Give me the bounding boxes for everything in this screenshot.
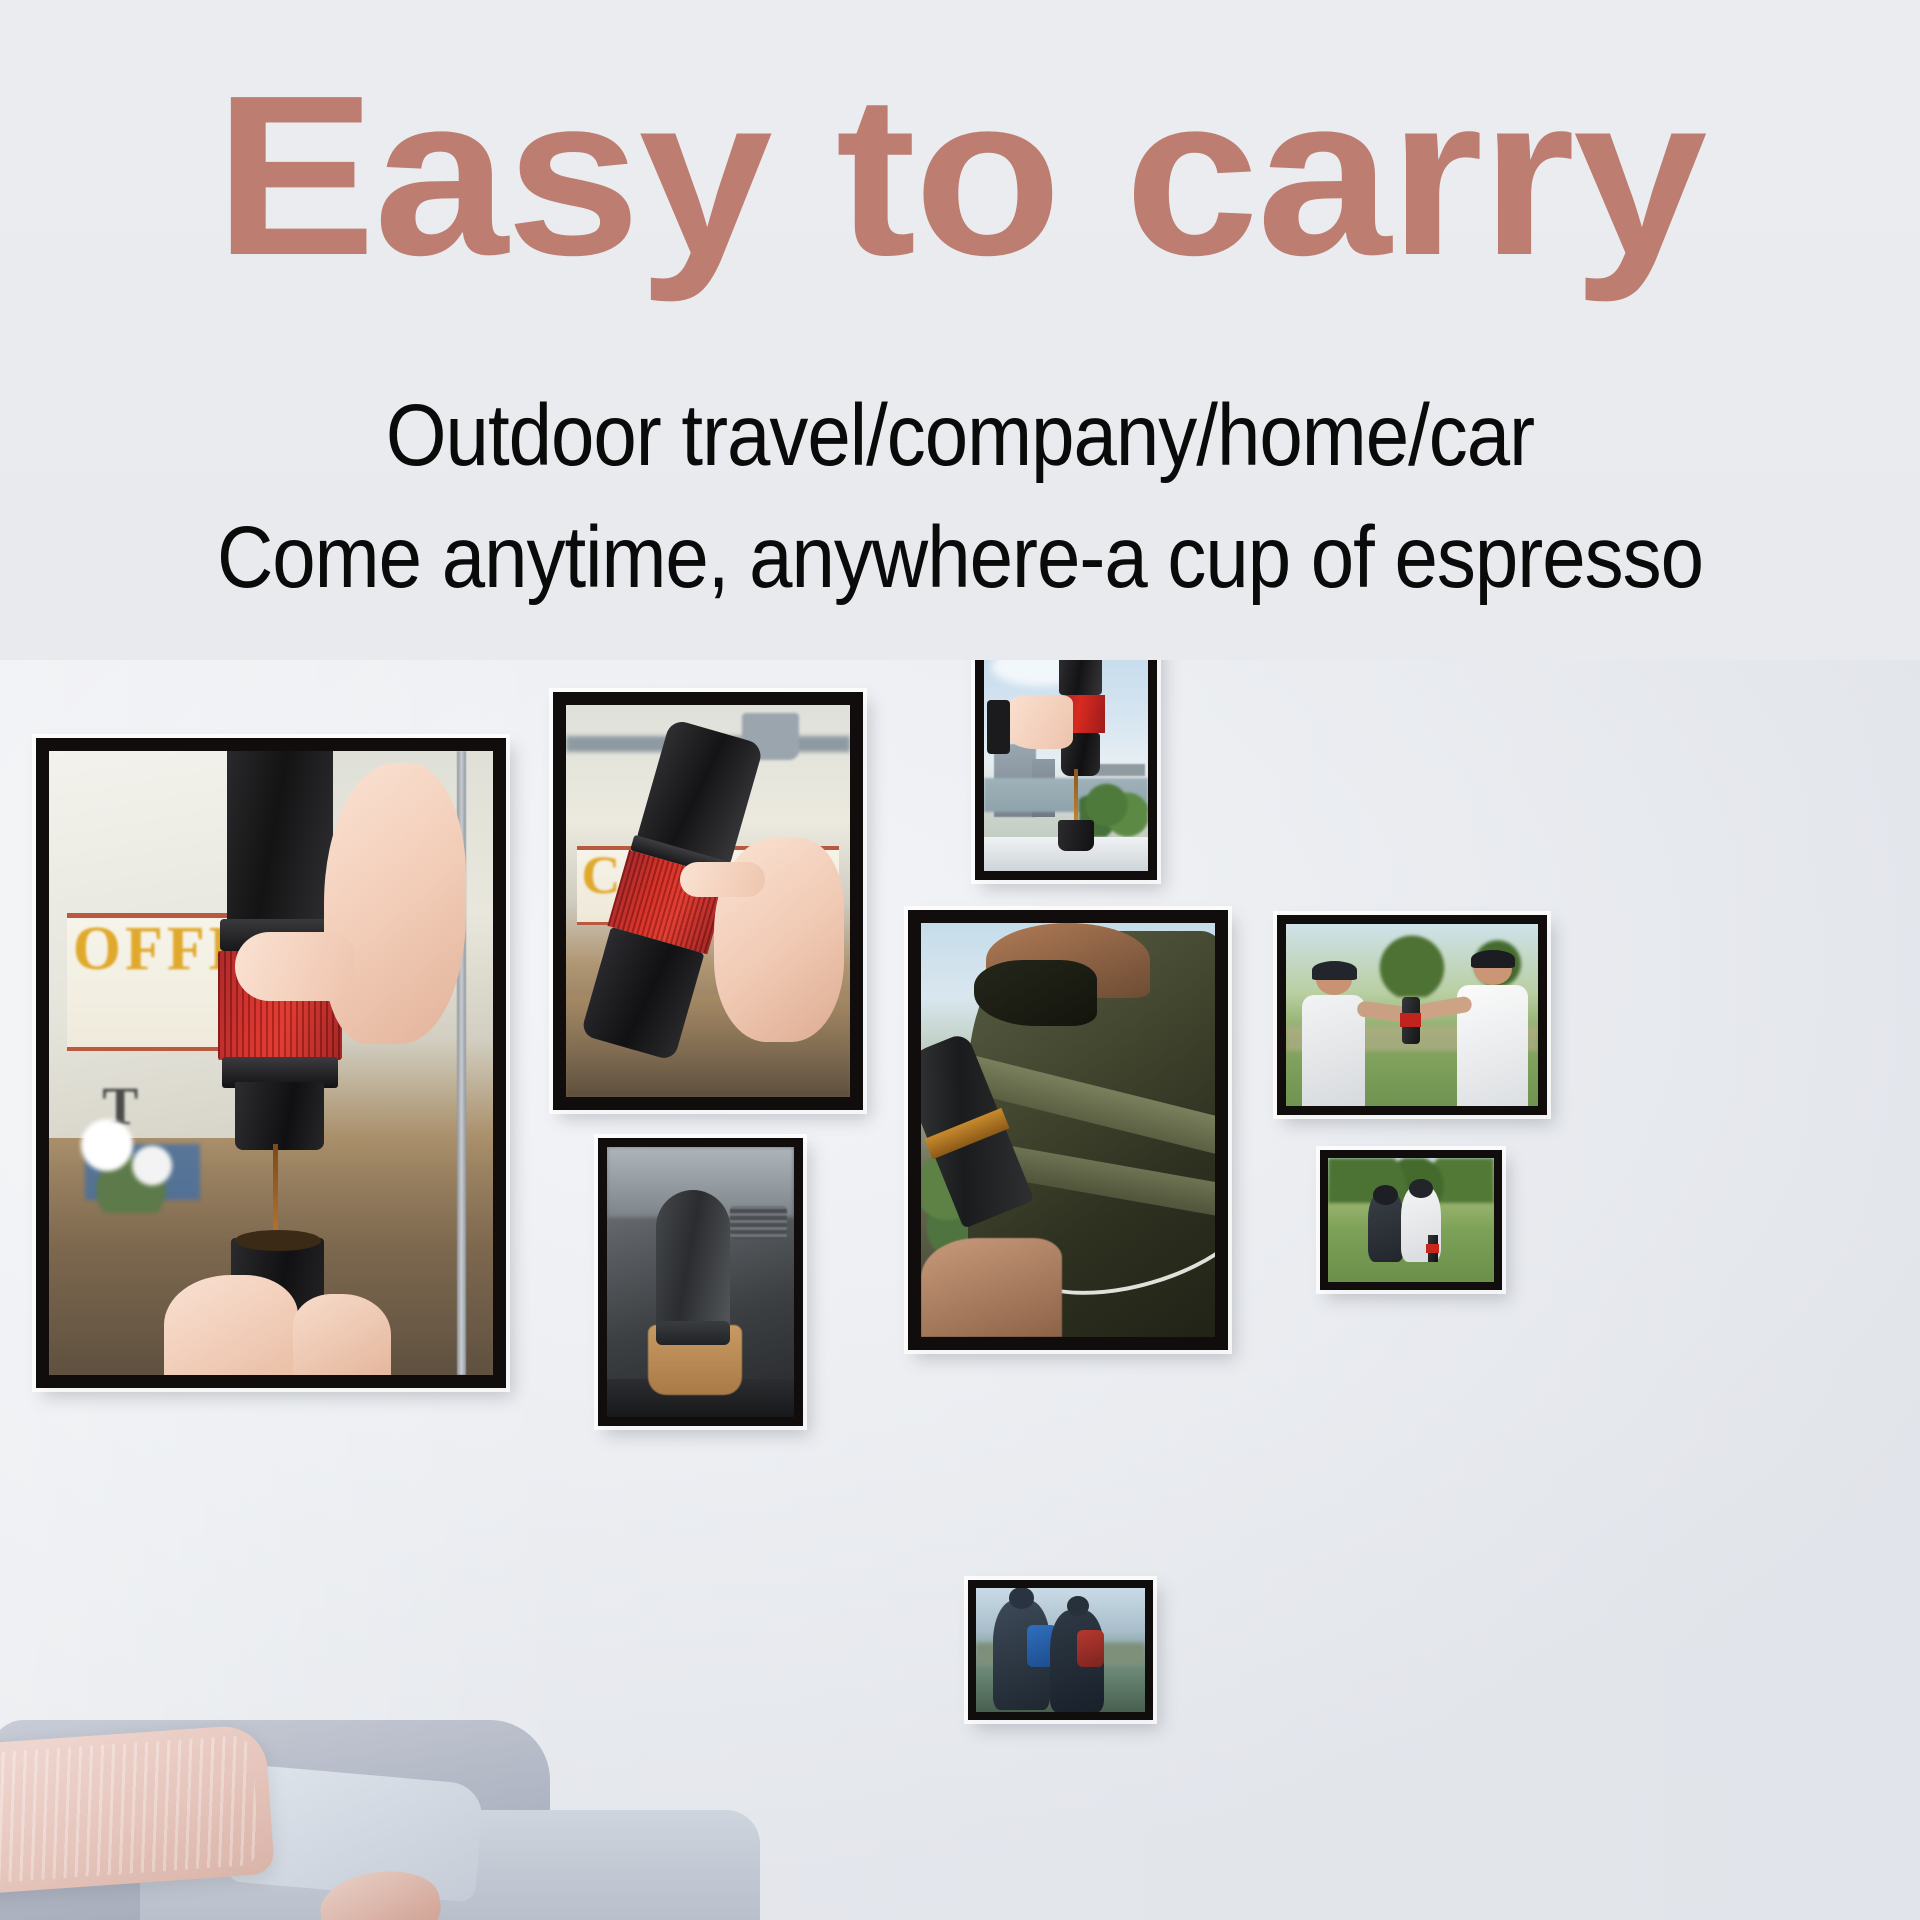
page-title: Easy to carry (0, 62, 1920, 290)
hand (324, 763, 466, 1044)
sofa (0, 1670, 750, 1920)
red-backpack (1077, 1630, 1104, 1667)
gallery-wall: OFFE T CO (0, 560, 1920, 1920)
photo-frame-couple-grass[interactable] (1320, 1150, 1502, 1290)
espresso-maker (1402, 997, 1420, 1044)
person-left (1301, 964, 1367, 1106)
cap-icon (1312, 961, 1358, 979)
espresso-maker (656, 1190, 731, 1336)
photo-frame-hikers[interactable] (968, 1580, 1153, 1720)
photo-cafe-pour: OFFE T (49, 751, 493, 1375)
photo-backpack (921, 923, 1215, 1337)
photo-car-cupholder (607, 1147, 794, 1417)
photo-park-friends (1286, 924, 1538, 1106)
photo-frame-backpack[interactable] (908, 910, 1228, 1350)
photo-rooftop-city (984, 627, 1148, 871)
photo-cafe-hold: CO (566, 705, 850, 1097)
espresso-maker (1428, 1235, 1438, 1262)
coffee-stream (273, 1144, 278, 1244)
photo-couple-grass (1328, 1158, 1494, 1282)
photo-frame-cafe-pour[interactable]: OFFE T (36, 738, 506, 1388)
wrist-watch (987, 700, 1010, 754)
espresso-maker-body (227, 751, 334, 926)
sofa-pillow-pink (0, 1724, 275, 1895)
photo-frame-cafe-hold[interactable]: CO (553, 692, 863, 1110)
photo-frame-park-friends[interactable] (1277, 915, 1547, 1115)
photo-frame-car-cupholder[interactable] (598, 1138, 803, 1426)
coffee-stream (1074, 769, 1078, 823)
header-banner: Easy to carry Outdoor travel/company/hom… (0, 0, 1920, 660)
person-right (1457, 953, 1528, 1106)
subtitle-line-2: Come anytime, anywhere-a cup of espresso (0, 507, 1920, 609)
air-vent (730, 1206, 786, 1238)
photo-hikers (976, 1588, 1145, 1712)
hand (1000, 695, 1072, 749)
subtitle-line-1: Outdoor travel/company/home/car (0, 385, 1920, 487)
coffee-cup (1058, 820, 1094, 852)
